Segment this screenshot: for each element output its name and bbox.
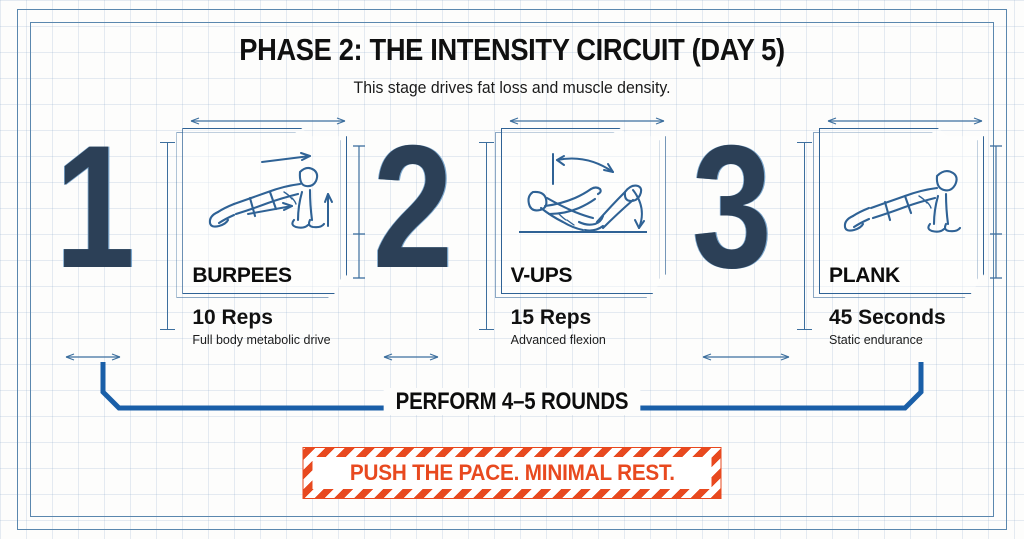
dimension-line-width-3 (825, 116, 985, 126)
dimension-line-vertical-3 (988, 142, 1004, 282)
dimension-line-height-2 (475, 128, 497, 360)
exercise-metric-1: 10 Reps (192, 306, 347, 330)
burpee-plank-figure-icon (188, 136, 340, 248)
hazard-banner-text: PUSH THE PACE. MINIMAL REST. (350, 460, 675, 486)
step-number-2: 2 (373, 136, 453, 280)
exercise-panel-3: PLANK 45 Seconds Static endurance (819, 128, 984, 347)
exercise-illustration-card-2: V-UPS (501, 128, 666, 294)
page-title: PHASE 2: THE INTENSITY CIRCUIT (DAY 5) (61, 32, 962, 68)
step-number-3: 3 (692, 136, 772, 280)
rounds-section: PERFORM 4–5 ROUNDS (95, 362, 929, 414)
exercise-description-3: Static endurance (829, 333, 984, 347)
dimension-line-height-1 (156, 128, 178, 360)
exercise-name-2: V-UPS (511, 264, 573, 288)
step-number-1: 1 (55, 136, 135, 280)
exercise-name-3: PLANK (829, 264, 900, 288)
dimension-line-number-width-1 (63, 352, 123, 362)
rounds-label: PERFORM 4–5 ROUNDS (158, 388, 867, 416)
exercise-panel-2: V-UPS 15 Reps Advanced flexion (501, 128, 666, 347)
exercise-metric-2: 15 Reps (511, 306, 666, 330)
exercise-name-1: BURPEES (192, 264, 291, 288)
exercise-card-3: 3 (692, 128, 984, 360)
dimension-line-number-width-3 (700, 352, 792, 362)
dimension-line-number-width-2 (381, 352, 441, 362)
exercise-card-2: 2 (373, 128, 665, 360)
exercise-panel-1: BURPEES 10 Reps Full body metabolic driv… (182, 128, 347, 347)
exercise-metric-3: 45 Seconds (829, 306, 984, 330)
v-up-figure-icon (507, 136, 659, 248)
plank-figure-icon (825, 136, 977, 248)
page-subtitle: This stage drives fat loss and muscle de… (36, 78, 988, 98)
hazard-banner: PUSH THE PACE. MINIMAL REST. (303, 447, 722, 499)
dimension-line-width-2 (507, 116, 667, 126)
dimension-line-width-1 (188, 116, 348, 126)
exercise-description-1: Full body metabolic drive (192, 333, 347, 347)
exercise-description-2: Advanced flexion (511, 333, 666, 347)
hazard-banner-inner: PUSH THE PACE. MINIMAL REST. (313, 457, 712, 489)
exercise-illustration-card-1: BURPEES (182, 128, 347, 294)
exercise-card-1: 1 (55, 128, 347, 360)
exercise-illustration-card-3: PLANK (819, 128, 984, 294)
exercise-row: 1 (55, 128, 984, 360)
header: PHASE 2: THE INTENSITY CIRCUIT (DAY 5) T… (0, 32, 1024, 98)
dimension-line-height-3 (793, 128, 815, 360)
dimension-line-vertical-1 (351, 142, 367, 282)
